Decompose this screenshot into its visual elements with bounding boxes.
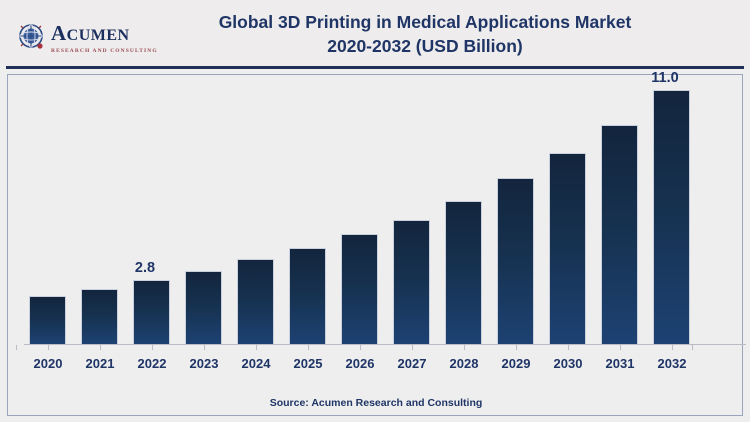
x-label-2024: 2024 bbox=[230, 356, 282, 371]
bar-slot bbox=[490, 75, 542, 345]
logo-tagline: RESEARCH AND CONSULTING bbox=[51, 47, 166, 55]
x-tick-2029 bbox=[516, 345, 517, 350]
bar-2021[interactable] bbox=[81, 289, 118, 345]
acumen-logo: ACUMEN RESEARCH AND CONSULTING bbox=[18, 22, 166, 56]
bar-slot: 11.0 bbox=[646, 75, 698, 345]
x-tick-2022 bbox=[152, 345, 153, 350]
x-tick-2020 bbox=[48, 345, 49, 350]
x-axis-cap-left bbox=[16, 345, 17, 350]
header-band: ACUMEN RESEARCH AND CONSULTING Global 3D… bbox=[0, 0, 750, 68]
x-tick-2032 bbox=[672, 345, 673, 350]
bar-slot bbox=[230, 75, 282, 345]
page-title: Global 3D Printing in Medical Applicatio… bbox=[175, 10, 675, 58]
bar-slot bbox=[334, 75, 386, 345]
header-divider bbox=[6, 66, 744, 69]
bar-2026[interactable] bbox=[341, 234, 378, 345]
bar-slot bbox=[386, 75, 438, 345]
plot-area: 2.811.0 20202021202220232024202520262027… bbox=[16, 75, 736, 345]
x-tick-2023 bbox=[204, 345, 205, 350]
source-note: Source: Acumen Research and Consulting bbox=[8, 397, 744, 409]
bar-2029[interactable] bbox=[497, 178, 534, 345]
bar-2031[interactable] bbox=[601, 125, 638, 345]
bar-slot bbox=[282, 75, 334, 345]
bar-2020[interactable] bbox=[29, 296, 66, 345]
bar-slot bbox=[438, 75, 490, 345]
bar-slot bbox=[594, 75, 646, 345]
bar-2022[interactable] bbox=[133, 280, 170, 345]
x-label-2028: 2028 bbox=[438, 356, 490, 371]
bar-value-label-2022: 2.8 bbox=[119, 260, 171, 276]
bar-2025[interactable] bbox=[289, 248, 326, 345]
x-tick-2028 bbox=[464, 345, 465, 350]
bar-slot bbox=[542, 75, 594, 345]
bar-value-label-2032: 11.0 bbox=[639, 70, 691, 86]
x-label-2020: 2020 bbox=[22, 356, 74, 371]
x-label-2030: 2030 bbox=[542, 356, 594, 371]
title-line-1: Global 3D Printing in Medical Applicatio… bbox=[175, 10, 675, 34]
bar-2024[interactable] bbox=[237, 259, 274, 345]
x-tick-2026 bbox=[360, 345, 361, 350]
x-label-2026: 2026 bbox=[334, 356, 386, 371]
logo-name: ACUMEN bbox=[51, 22, 166, 47]
x-label-2029: 2029 bbox=[490, 356, 542, 371]
logo-name-initial: A bbox=[51, 21, 67, 45]
chart-infographic: ACUMEN RESEARCH AND CONSULTING Global 3D… bbox=[0, 0, 750, 422]
bar-2027[interactable] bbox=[393, 220, 430, 345]
x-tick-2030 bbox=[568, 345, 569, 350]
bar-slot: 2.8 bbox=[126, 75, 178, 345]
bar-2030[interactable] bbox=[549, 153, 586, 345]
x-axis-cap-right bbox=[692, 345, 693, 350]
x-label-2032: 2032 bbox=[646, 356, 698, 371]
x-label-2025: 2025 bbox=[282, 356, 334, 371]
bar-slot bbox=[22, 75, 74, 345]
bars-container: 2.811.0 bbox=[16, 75, 736, 345]
logo-wordmark: ACUMEN RESEARCH AND CONSULTING bbox=[51, 22, 166, 55]
x-tick-2027 bbox=[412, 345, 413, 350]
x-axis-line bbox=[24, 344, 746, 345]
x-label-2031: 2031 bbox=[594, 356, 646, 371]
x-tick-2031 bbox=[620, 345, 621, 350]
x-tick-2025 bbox=[308, 345, 309, 350]
title-line-2: 2020-2032 (USD Billion) bbox=[175, 34, 675, 58]
chart-panel: 2.811.0 20202021202220232024202520262027… bbox=[7, 74, 743, 416]
x-tick-2024 bbox=[256, 345, 257, 350]
x-label-2027: 2027 bbox=[386, 356, 438, 371]
bar-2032[interactable] bbox=[653, 90, 690, 345]
x-tick-2021 bbox=[100, 345, 101, 350]
bar-2028[interactable] bbox=[445, 201, 482, 345]
x-label-2021: 2021 bbox=[74, 356, 126, 371]
logo-name-rest: CUMEN bbox=[67, 27, 130, 44]
x-label-2023: 2023 bbox=[178, 356, 230, 371]
bar-slot bbox=[74, 75, 126, 345]
globe-logo-icon bbox=[18, 23, 48, 53]
x-label-2022: 2022 bbox=[126, 356, 178, 371]
bar-2023[interactable] bbox=[185, 271, 222, 345]
bar-slot bbox=[178, 75, 230, 345]
